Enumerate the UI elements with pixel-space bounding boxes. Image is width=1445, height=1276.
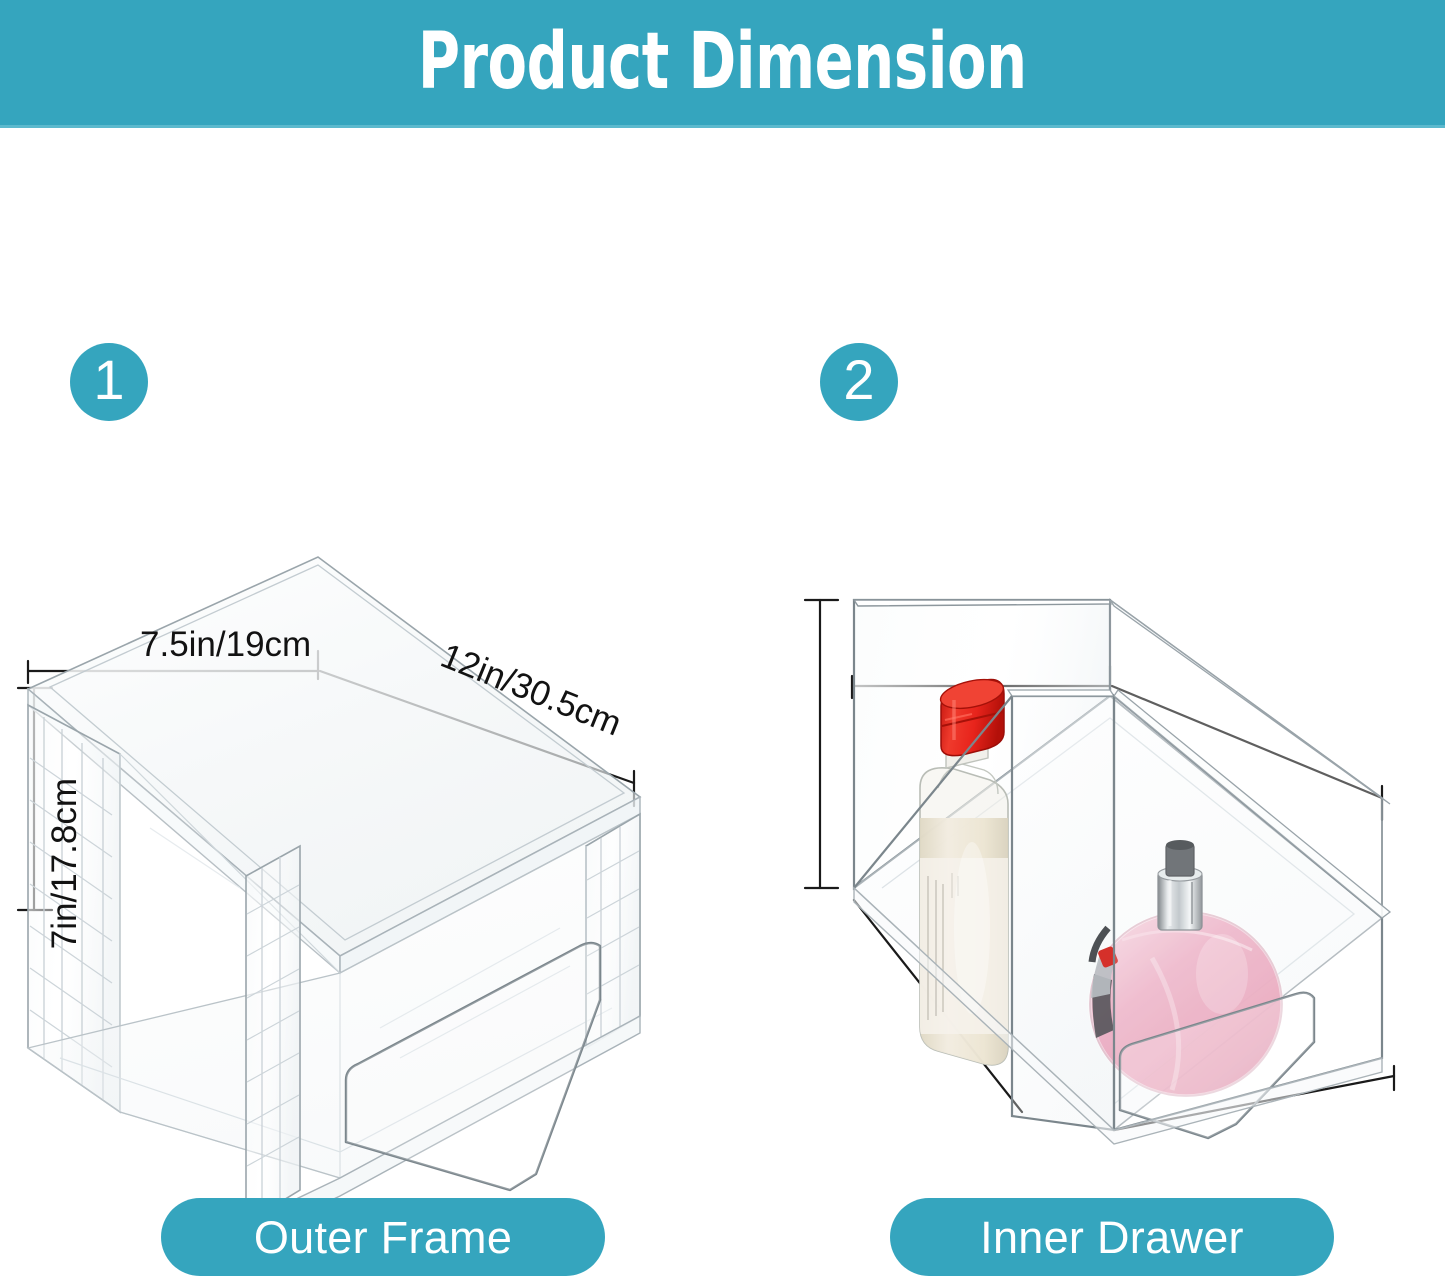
- handle-icon: [1120, 993, 1314, 1138]
- perfume-bottle: [1090, 840, 1282, 1096]
- dimension-label-height: 7in/17.8cm: [45, 778, 84, 949]
- page-title: Product Dimension: [418, 23, 1027, 101]
- dimension-line-width: [852, 666, 1110, 698]
- dimension-label-width: 7.5in/19cm: [140, 625, 311, 664]
- caption-outer-frame-label: Outer Frame: [254, 1215, 512, 1260]
- bottle-cap-icon: [938, 675, 1006, 756]
- lotion-bottle: [918, 675, 1012, 1070]
- inner-drawer-illustration: [722, 128, 1445, 1275]
- caption-inner-drawer-label: Inner Drawer: [980, 1215, 1244, 1260]
- product-panel-inner-drawer: 6.7in/17cm 11.8in/30cm 6.5in/16.5cm 11in…: [722, 128, 1445, 1275]
- dimension-line-depth: [1112, 686, 1382, 820]
- dimension-line-side: [854, 900, 1022, 1112]
- handle-icon: [346, 943, 600, 1190]
- inner-drawer-body: [854, 600, 1390, 1144]
- perfume-cap-icon: [1158, 840, 1202, 930]
- dimension-line-front: [1114, 1066, 1394, 1130]
- header-banner: Product Dimension: [0, 0, 1445, 128]
- caption-inner-drawer: Inner Drawer: [890, 1198, 1334, 1276]
- dimension-label-depth: 12in/30.5cm: [435, 636, 626, 744]
- caption-outer-frame: Outer Frame: [161, 1198, 605, 1276]
- outer-frame-body: [28, 557, 640, 1240]
- product-panel-outer-frame: 7.5in/19cm 12in/30.5cm 7in/17.8cm: [0, 128, 722, 1275]
- dimension-line-height: [805, 600, 838, 888]
